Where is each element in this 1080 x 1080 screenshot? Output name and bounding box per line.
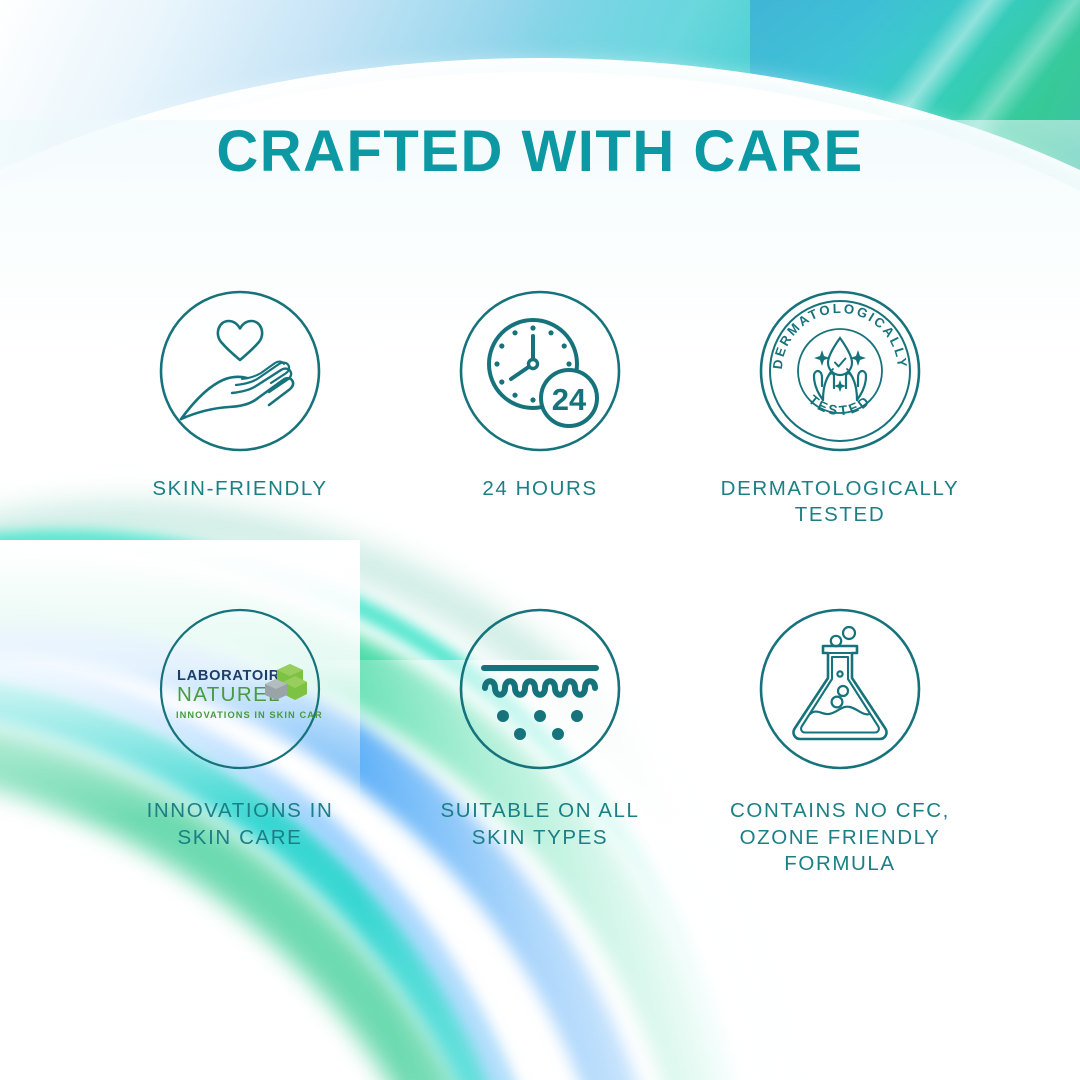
- logo-tagline: INNOVATIONS IN SKIN CARE: [176, 710, 323, 720]
- seal-top-text: DERMATOLOGICALLY: [770, 301, 910, 370]
- feature-label: 24 HOURS: [482, 476, 597, 502]
- content-area: CRAFTED WITH CARE SKIN-FRIENDLY: [0, 0, 1080, 1080]
- feature-item-dermatologically-tested: DERMATOLOGICALLY TESTED: [690, 288, 990, 528]
- feature-grid: SKIN-FRIENDLY: [90, 288, 990, 877]
- hand-holding-heart-icon: [157, 288, 323, 454]
- feature-item-skin-friendly: SKIN-FRIENDLY: [90, 288, 390, 528]
- feature-item-24-hours: 24 24 HOURS: [390, 288, 690, 528]
- feature-label: SKIN-FRIENDLY: [152, 476, 327, 502]
- laboratoire-naturel-logo-icon: LABORATOIRE NATUREL INNOVATIONS IN SKIN …: [157, 606, 323, 772]
- feature-label: DERMATOLOGICALLY TESTED: [721, 476, 960, 528]
- feature-label: SUITABLE ON ALL SKIN TYPES: [440, 798, 639, 850]
- clock-badge-text: 24: [552, 382, 587, 417]
- feature-item-contains-no-cfc: CONTAINS NO CFC, OZONE FRIENDLY FORMULA: [690, 606, 990, 877]
- page-title: CRAFTED WITH CARE: [0, 118, 1080, 185]
- skin-layers-icon: [457, 606, 623, 772]
- feature-label: CONTAINS NO CFC, OZONE FRIENDLY FORMULA: [690, 798, 990, 877]
- seal-bottom-text: TESTED: [806, 392, 874, 418]
- clock-24-hours-icon: 24: [457, 288, 623, 454]
- feature-item-suitable-on-all-skin-types: SUITABLE ON ALL SKIN TYPES: [390, 606, 690, 877]
- flask-icon: [757, 606, 923, 772]
- feature-label: INNOVATIONS IN SKIN CARE: [147, 798, 334, 850]
- promo-graphic: CRAFTED WITH CARE SKIN-FRIENDLY: [0, 0, 1080, 1080]
- dermatologically-tested-seal-icon: DERMATOLOGICALLY TESTED: [757, 288, 923, 454]
- feature-item-innovations-in-skin-care: LABORATOIRE NATUREL INNOVATIONS IN SKIN …: [90, 606, 390, 877]
